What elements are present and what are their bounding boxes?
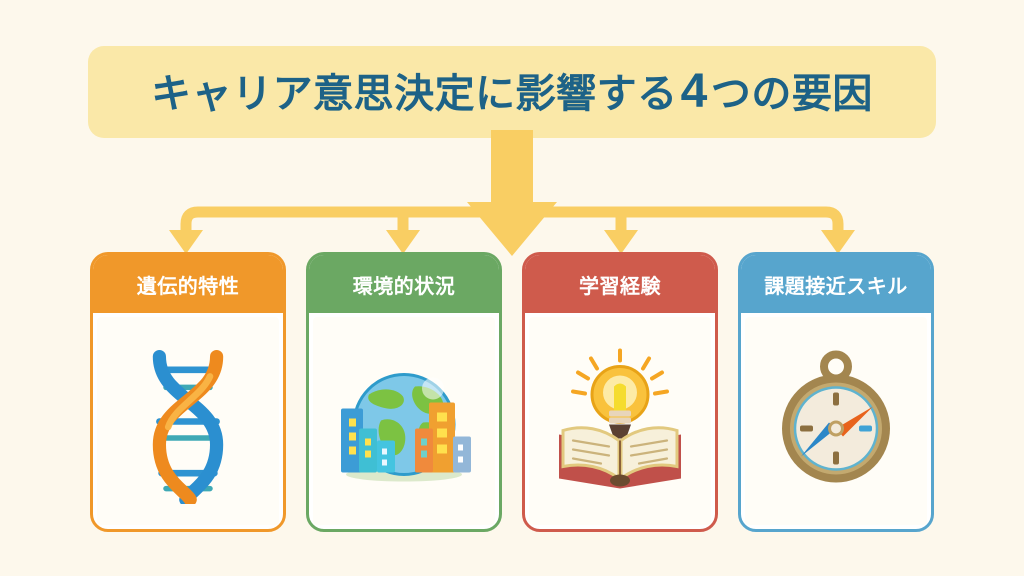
title-suffix: つの要因 <box>711 72 873 116</box>
down-arrow-main <box>467 130 557 256</box>
page-title: キャリア意思決定に影響する4つの要因 <box>151 68 873 116</box>
title-banner: キャリア意思決定に影響する4つの要因 <box>88 46 936 138</box>
title-number: 4 <box>678 65 711 118</box>
card-header-genetic-traits: 遺伝的特性 <box>93 255 283 313</box>
card-body-learning-experience <box>529 317 711 525</box>
factor-card-environmental-conditions[interactable]: 環境的状況 <box>306 252 502 532</box>
factor-card-genetic-traits[interactable]: 遺伝的特性 <box>90 252 286 532</box>
factor-card-row: 遺伝的特性 <box>0 252 1024 534</box>
down-arrow-card-4 <box>821 230 855 254</box>
book-lightbulb-icon <box>545 339 695 504</box>
card-header-environmental-conditions: 環境的状況 <box>309 255 499 313</box>
card-title-task-approach-skills: 課題接近スキル <box>764 270 908 299</box>
globe-city-icon <box>329 339 479 504</box>
card-title-environmental-conditions: 環境的状況 <box>353 270 456 299</box>
card-header-learning-experience: 学習経験 <box>525 255 715 313</box>
infographic-canvas: キャリア意思決定に影響する4つの要因 遺伝的特性 <box>0 0 1024 576</box>
down-arrow-card-1 <box>169 230 203 254</box>
dna-icon <box>113 339 263 504</box>
card-body-genetic-traits <box>97 317 279 525</box>
card-body-environmental-conditions <box>313 317 495 525</box>
down-arrow-card-3 <box>604 230 638 254</box>
title-prefix: キャリア意思決定に影響する <box>151 72 678 116</box>
card-body-task-approach-skills <box>745 317 927 525</box>
compass-icon <box>761 339 911 504</box>
flow-connectors <box>0 130 1024 260</box>
card-title-learning-experience: 学習経験 <box>579 270 661 299</box>
factor-card-task-approach-skills[interactable]: 課題接近スキル <box>738 252 934 532</box>
card-title-genetic-traits: 遺伝的特性 <box>137 270 240 299</box>
card-header-task-approach-skills: 課題接近スキル <box>741 255 931 313</box>
down-arrow-card-2 <box>386 230 420 254</box>
factor-card-learning-experience[interactable]: 学習経験 <box>522 252 718 532</box>
